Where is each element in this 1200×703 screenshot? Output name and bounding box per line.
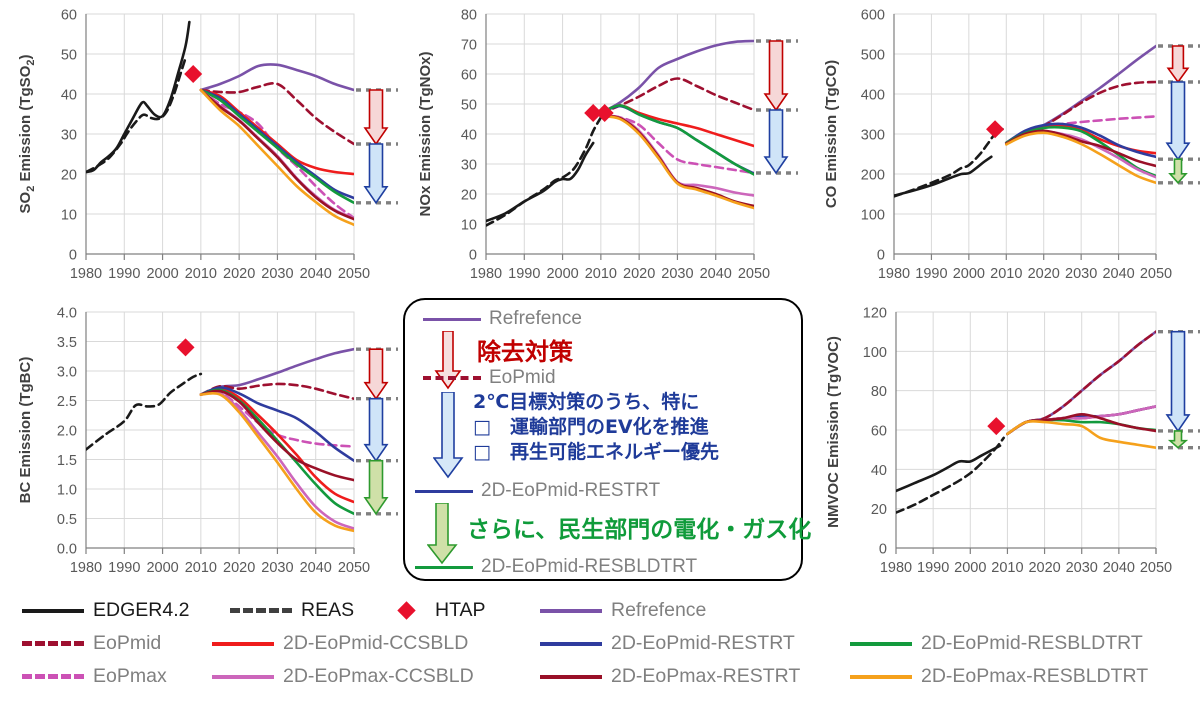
x-tick-label: 2020: [1028, 266, 1060, 282]
y-tick-label: 3.5: [57, 335, 77, 351]
reduction-arrow-red: [365, 90, 387, 144]
line-swatch-reference: [423, 318, 481, 321]
legend-item-htap: HTAP: [376, 599, 486, 622]
line-swatch-reference: [540, 609, 602, 613]
y-tick-label: 60: [871, 424, 887, 440]
x-tick-label: 2050: [338, 266, 370, 282]
chart-svg-so2: 0102030405060198019902000201020202030204…: [0, 0, 400, 292]
chart-panel-nox: 0102030405060708019801990200020102020203…: [400, 0, 800, 292]
line-swatch-max-ccsbld: [212, 675, 274, 679]
x-tick-label: 2030: [261, 266, 293, 282]
y-tick-label: 50: [61, 48, 77, 64]
legend-label-mid-ccsbld: 2D-EoPmid-CCSBLD: [283, 632, 468, 655]
y-tick-label: 20: [871, 502, 887, 518]
x-tick-label: 2000: [954, 560, 986, 576]
arrow-blue-two-degree: [433, 392, 469, 480]
legend-label-eopmax: EoPmax: [93, 665, 167, 688]
annotation-removal-measures: 除去対策: [477, 332, 573, 367]
x-tick-label: 2050: [1140, 266, 1172, 282]
x-tick-label: 2040: [1102, 266, 1134, 282]
line-swatch-max-resbldtrt: [850, 675, 912, 679]
x-tick-label: 2040: [700, 266, 732, 282]
y-tick-label: 10: [61, 208, 77, 224]
x-tick-label: 1980: [878, 266, 910, 282]
y-tick-label: 1.5: [57, 453, 77, 469]
reduction-arrow-green: [1170, 431, 1186, 448]
reduction-arrow-blue: [1167, 332, 1189, 431]
y-tick-label: 100: [863, 345, 887, 361]
reduction-arrow-green: [1170, 159, 1186, 183]
x-tick-label: 2000: [546, 266, 578, 282]
y-tick-label: 0.5: [57, 512, 77, 528]
y-tick-label: 10: [461, 218, 477, 234]
line-swatch-mid-restrt: [540, 642, 602, 646]
legend-item-eopmax: EoPmax: [22, 665, 167, 688]
y-tick-label: 40: [61, 88, 77, 104]
line-swatch-eopmid: [22, 641, 84, 646]
legend-item-reference: Refrefence: [540, 599, 706, 622]
legend-label-reference: Refrefence: [489, 308, 582, 330]
x-tick-label: 1990: [917, 560, 949, 576]
x-tick-label: 2020: [623, 266, 655, 282]
x-tick-label: 2030: [1065, 266, 1097, 282]
x-tick-label: 2020: [1028, 560, 1060, 576]
legend-label-mid-resbldtrt: 2D-EoPmid-RESBLDTRT: [921, 632, 1143, 655]
annotation-line-3: □ 再生可能エネルギー優先: [473, 440, 719, 465]
legend-row-reference: Refrefence: [423, 308, 582, 330]
y-tick-label: 200: [861, 168, 885, 184]
y-axis-title: SO2 Emission (TgSO2): [17, 55, 37, 214]
y-tick-label: 40: [871, 463, 887, 479]
legend-label-eopmid: EoPmid: [489, 367, 556, 389]
reduction-arrow-blue: [365, 399, 387, 461]
x-tick-label: 2030: [261, 560, 293, 576]
line-swatch-mid-restrt: [415, 490, 473, 493]
y-tick-label: 0: [879, 542, 887, 558]
legend-label-edger42: EDGER4.2: [93, 599, 189, 622]
x-tick-label: 2040: [300, 266, 332, 282]
x-tick-label: 1990: [508, 266, 540, 282]
x-tick-label: 1980: [470, 266, 502, 282]
legend-label-reas: REAS: [301, 599, 354, 622]
legend-item-max-restrt: 2D-EoPmax-RESTRT: [540, 665, 800, 688]
x-tick-label: 2030: [661, 266, 693, 282]
chart-panel-bc: 0.00.51.01.52.02.53.03.54.01980199020002…: [0, 292, 400, 592]
x-tick-label: 1980: [70, 560, 102, 576]
line-swatch-eopmax: [22, 674, 84, 679]
legend-label-max-restrt: 2D-EoPmax-RESTRT: [611, 665, 800, 688]
x-tick-label: 2050: [1140, 560, 1172, 576]
bottom-legend: EDGER4.2REASHTAPRefrefenceEoPmid2D-EoPmi…: [0, 596, 1200, 703]
annotation-two-degree-target: 2℃目標対策のうち、特に □ 運輸部門のEV化を推進 □ 再生可能エネルギー優先: [473, 390, 719, 465]
legend-label-max-resbldtrt: 2D-EoPmax-RESBLDTRT: [921, 665, 1148, 688]
x-tick-label: 1980: [70, 266, 102, 282]
y-tick-label: 80: [871, 384, 887, 400]
y-tick-label: 4.0: [57, 306, 77, 322]
y-tick-label: 50: [461, 98, 477, 114]
x-tick-label: 1990: [108, 560, 140, 576]
y-axis-title: NMVOC Emission (TgVOC): [825, 336, 842, 528]
x-tick-label: 1990: [108, 266, 140, 282]
x-tick-label: 2050: [338, 560, 370, 576]
chart-svg-nox: 0102030405060708019801990200020102020203…: [400, 0, 800, 292]
line-swatch-mid-ccsbld: [212, 642, 274, 646]
y-tick-label: 2.5: [57, 394, 77, 410]
annotation-legend-box: Refrefence 除去対策 EoPmid 2℃目標対策のうち、特に □ 運輸…: [403, 298, 803, 581]
y-axis-title: NOx Emission (TgNOx): [417, 51, 434, 216]
legend-item-mid-resbldtrt: 2D-EoPmid-RESBLDTRT: [850, 632, 1143, 655]
annotation-line-2: □ 運輸部門のEV化を推進: [473, 415, 719, 440]
y-tick-label: 0: [877, 248, 885, 264]
reduction-arrow-green: [365, 461, 387, 514]
y-tick-label: 0: [469, 248, 477, 264]
x-tick-label: 2020: [223, 560, 255, 576]
y-tick-label: 1.0: [57, 483, 77, 499]
chart-svg-nmvoc: 0204060801001201980199020002010202020302…: [800, 292, 1200, 592]
y-tick-label: 40: [461, 128, 477, 144]
line-swatch-mid-resbldtrt: [850, 642, 912, 646]
annotation-further-electrification: さらに、民生部門の電化・ガス化: [467, 510, 811, 544]
y-tick-label: 30: [461, 158, 477, 174]
legend-label-mid-restrt: 2D-EoPmid-RESTRT: [611, 632, 795, 655]
x-tick-label: 2000: [146, 266, 178, 282]
reduction-arrow-red: [765, 41, 787, 110]
x-tick-label: 2000: [953, 266, 985, 282]
legend-item-mid-restrt: 2D-EoPmid-RESTRT: [540, 632, 795, 655]
y-tick-label: 0.0: [57, 542, 77, 558]
legend-item-max-resbldtrt: 2D-EoPmax-RESBLDTRT: [850, 665, 1148, 688]
y-tick-label: 0: [69, 248, 77, 264]
x-tick-label: 2010: [185, 266, 217, 282]
legend-label-eopmid: EoPmid: [93, 632, 161, 655]
x-tick-label: 2000: [146, 560, 178, 576]
y-tick-label: 20: [461, 188, 477, 204]
chart-svg-co: 0100200300400500600198019902000201020202…: [800, 0, 1200, 292]
y-tick-label: 300: [861, 128, 885, 144]
legend-label-htap: HTAP: [435, 599, 486, 622]
y-tick-label: 60: [461, 68, 477, 84]
x-tick-label: 2010: [185, 560, 217, 576]
line-swatch-max-restrt: [540, 675, 602, 679]
annotation-line-1: 2℃目標対策のうち、特に: [473, 390, 719, 415]
chart-panel-nmvoc: 0204060801001201980199020002010202020302…: [800, 292, 1200, 592]
legend-item-mid-ccsbld: 2D-EoPmid-CCSBLD: [212, 632, 468, 655]
y-tick-label: 80: [461, 8, 477, 24]
reduction-arrow-blue: [765, 110, 787, 173]
y-tick-label: 100: [861, 208, 885, 224]
legend-item-reas: REAS: [230, 599, 354, 622]
y-tick-label: 3.0: [57, 365, 77, 381]
legend-label-mid-restrt: 2D-EoPmid-RESTRT: [481, 480, 660, 502]
legend-row-mid-resbldtrt: 2D-EoPmid-RESBLDTRT: [415, 556, 697, 578]
htap-marker-icon: [397, 601, 415, 619]
y-axis-title: BC Emission (TgBC): [17, 357, 34, 504]
y-tick-label: 500: [861, 48, 885, 64]
x-tick-label: 2010: [991, 560, 1023, 576]
x-tick-label: 2010: [990, 266, 1022, 282]
x-tick-label: 2050: [738, 266, 770, 282]
legend-item-max-ccsbld: 2D-EoPmax-CCSBLD: [212, 665, 474, 688]
x-tick-label: 2040: [1103, 560, 1135, 576]
x-tick-label: 2020: [223, 266, 255, 282]
legend-row-eopmid: EoPmid: [423, 367, 556, 389]
line-swatch-edger42: [22, 609, 84, 613]
line-swatch-eopmid: [423, 376, 481, 380]
y-tick-label: 30: [61, 128, 77, 144]
legend-item-eopmid: EoPmid: [22, 632, 161, 655]
y-tick-label: 70: [461, 38, 477, 54]
chart-svg-bc: 0.00.51.01.52.02.53.03.54.01980199020002…: [0, 292, 400, 592]
reduction-arrow-blue: [365, 144, 387, 203]
y-axis-title: CO Emission (TgCO): [823, 60, 840, 208]
legend-label-mid-resbldtrt: 2D-EoPmid-RESBLDTRT: [481, 556, 697, 578]
y-tick-label: 2.0: [57, 424, 77, 440]
x-tick-label: 2030: [1066, 560, 1098, 576]
legend-label-max-ccsbld: 2D-EoPmax-CCSBLD: [283, 665, 474, 688]
line-swatch-mid-resbldtrt: [415, 566, 473, 569]
line-swatch-reas: [230, 608, 292, 613]
y-tick-label: 120: [863, 306, 887, 322]
reduction-arrow-red: [1168, 46, 1188, 82]
x-tick-label: 1980: [880, 560, 912, 576]
reduction-arrow-blue: [1167, 82, 1189, 159]
chart-panel-co: 0100200300400500600198019902000201020202…: [800, 0, 1200, 292]
legend-item-edger42: EDGER4.2: [22, 599, 189, 622]
x-tick-label: 2010: [585, 266, 617, 282]
reduction-arrow-red: [365, 349, 387, 399]
y-tick-label: 20: [61, 168, 77, 184]
legend-row-mid-restrt: 2D-EoPmid-RESTRT: [415, 480, 660, 502]
chart-panel-so2: 0102030405060198019902000201020202030204…: [0, 0, 400, 292]
y-tick-label: 60: [61, 8, 77, 24]
x-tick-label: 1990: [915, 266, 947, 282]
y-tick-label: 600: [861, 8, 885, 24]
y-tick-label: 400: [861, 88, 885, 104]
x-tick-label: 2040: [300, 560, 332, 576]
legend-label-reference: Refrefence: [611, 599, 706, 622]
